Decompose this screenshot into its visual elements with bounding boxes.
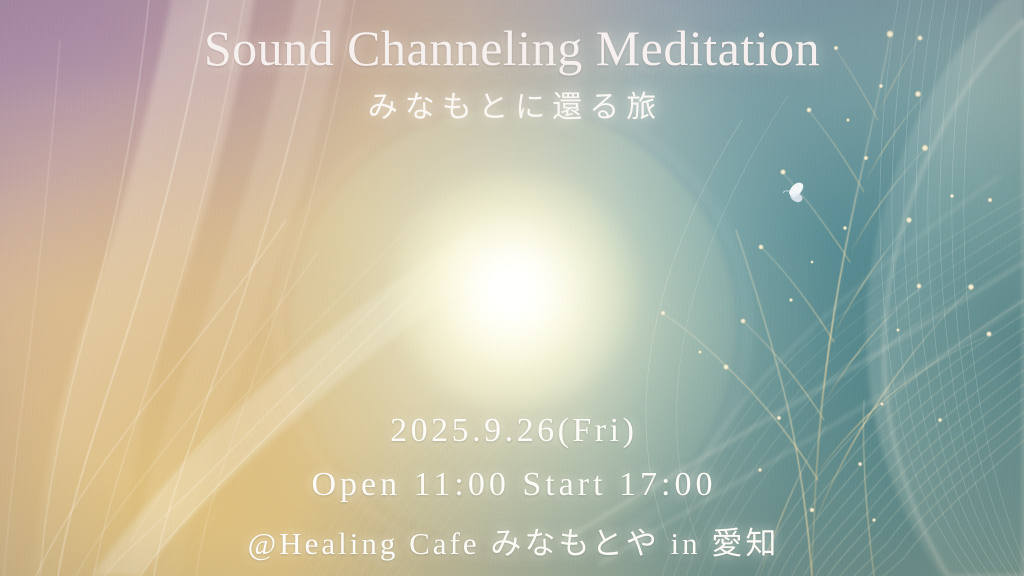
event-time: Open 11:00 Start 17:00 [0, 466, 1024, 504]
event-venue: @Healing Cafe みなもとや in 愛知 [0, 518, 1024, 563]
event-date: 2025.9.26(Fri) [0, 412, 1024, 450]
poster-canvas: Sound Channeling Meditation みなもとに還る旅 202… [0, 0, 1024, 576]
poster-title: Sound Channeling Meditation [0, 20, 1024, 76]
poster-subtitle: みなもとに還る旅 [0, 82, 1024, 126]
text-layer: Sound Channeling Meditation みなもとに還る旅 202… [0, 0, 1024, 576]
